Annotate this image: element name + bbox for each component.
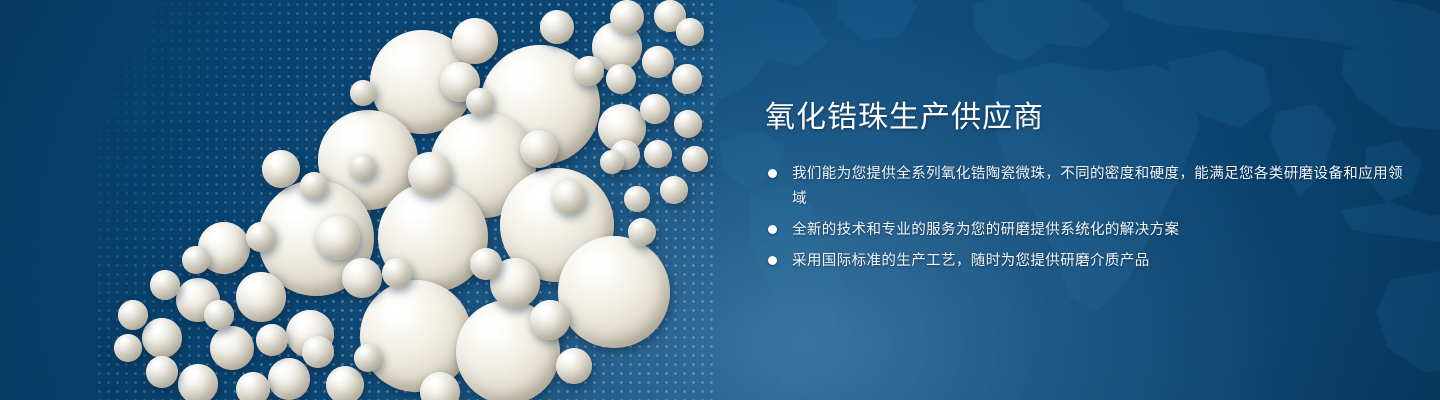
list-item: 全新的技术和专业的服务为您的研磨提供系统化的解决方案 — [765, 218, 1405, 243]
hero-banner: 氧化锆珠生产供应商 我们能为您提供全系列氧化锆陶瓷微珠，不同的密度和硬度，能满足… — [0, 0, 1440, 400]
zirconia-beads-image — [0, 0, 760, 400]
feature-text: 采用国际标准的生产工艺，随时为您提供研磨介质产品 — [792, 249, 1150, 274]
feature-list: 我们能为您提供全系列氧化锆陶瓷微珠，不同的密度和硬度，能满足您各类研磨设备和应用… — [765, 162, 1405, 274]
bullet-dot-icon — [768, 169, 777, 178]
bullet-dot-icon — [768, 225, 777, 234]
banner-copy: 氧化锆珠生产供应商 我们能为您提供全系列氧化锆陶瓷微珠，不同的密度和硬度，能满足… — [765, 100, 1405, 280]
list-item: 我们能为您提供全系列氧化锆陶瓷微珠，不同的密度和硬度，能满足您各类研磨设备和应用… — [765, 162, 1405, 212]
list-item: 采用国际标准的生产工艺，随时为您提供研磨介质产品 — [765, 249, 1405, 274]
feature-text: 全新的技术和专业的服务为您的研磨提供系统化的解决方案 — [792, 218, 1179, 243]
page-title: 氧化锆珠生产供应商 — [765, 100, 1405, 136]
feature-text: 我们能为您提供全系列氧化锆陶瓷微珠，不同的密度和硬度，能满足您各类研磨设备和应用… — [792, 162, 1405, 212]
bullet-dot-icon — [768, 256, 777, 265]
